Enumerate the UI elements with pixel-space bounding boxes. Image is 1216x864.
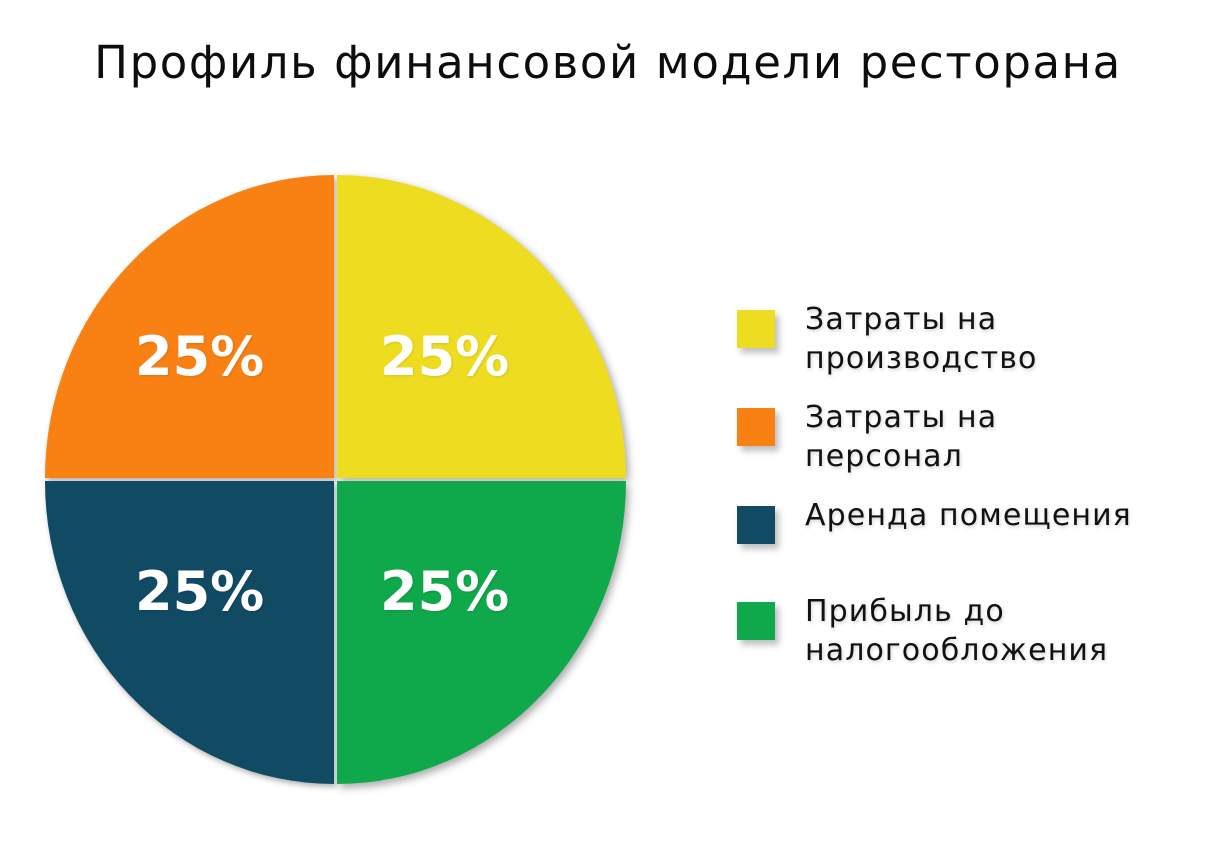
legend-item-production[interactable]: Затраты на производство bbox=[737, 300, 1177, 378]
pie-slice-rent-fill bbox=[45, 481, 334, 784]
legend-item-staff[interactable]: Затраты на персонал bbox=[737, 398, 1177, 476]
legend-swatch-rent-icon bbox=[737, 506, 775, 544]
legend-label-staff: Затраты на персонал bbox=[805, 398, 1155, 476]
pie-slice-label-production: 25% bbox=[380, 325, 509, 388]
pie-slice-profit-fill bbox=[337, 481, 626, 784]
pie-slice-rent[interactable] bbox=[45, 481, 334, 784]
legend-label-profit: Прибыль до налогообложения bbox=[805, 592, 1155, 670]
pie-slice-profit[interactable] bbox=[337, 481, 626, 784]
pie-slice-label-staff: 25% bbox=[135, 325, 264, 388]
legend-label-production: Затраты на производство bbox=[805, 300, 1155, 378]
legend-item-profit[interactable]: Прибыль до налогообложения bbox=[737, 592, 1177, 670]
legend-label-rent: Аренда помещения bbox=[805, 496, 1132, 535]
pie-chart-figure: Профиль финансовой модели ресторана 25% … bbox=[0, 0, 1216, 864]
pie-slice-label-rent: 25% bbox=[135, 560, 264, 623]
legend-swatch-profit-icon bbox=[737, 602, 775, 640]
pie-slice-label-profit: 25% bbox=[380, 560, 509, 623]
chart-title: Профиль финансовой модели ресторана bbox=[0, 36, 1216, 89]
pie-chart-graphic: 25% 25% 25% 25% bbox=[30, 160, 650, 805]
chart-legend: Затраты на производство Затраты на персо… bbox=[737, 300, 1177, 690]
legend-swatch-production-icon bbox=[737, 310, 775, 348]
legend-item-rent[interactable]: Аренда помещения bbox=[737, 496, 1177, 572]
legend-swatch-staff-icon bbox=[737, 408, 775, 446]
